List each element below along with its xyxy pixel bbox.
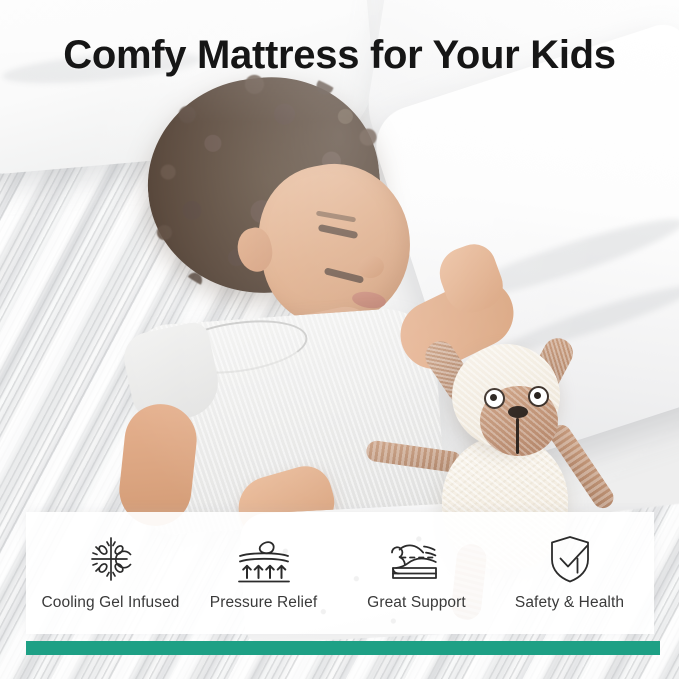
- feature-pressure-relief: Pressure Relief: [187, 534, 340, 612]
- feature-label: Safety & Health: [515, 594, 624, 612]
- feature-list: Cooling Gel Infused: [26, 512, 654, 634]
- pressure-relief-arrows-icon: [236, 534, 292, 584]
- accent-bar: [26, 641, 660, 655]
- feature-label: Pressure Relief: [210, 594, 317, 612]
- feature-panel: Cooling Gel Infused: [26, 512, 654, 634]
- feature-safety-health: Safety & Health: [493, 534, 646, 612]
- spine-support-icon: [389, 534, 445, 584]
- toy-head: [452, 344, 560, 448]
- feature-great-support: Great Support: [340, 534, 493, 612]
- page-title: Comfy Mattress for Your Kids: [0, 34, 679, 76]
- product-marketing-image: Comfy Mattress for Your Kids: [0, 0, 679, 679]
- toy-pupil-left: [490, 394, 497, 401]
- toy-mouth: [516, 418, 519, 454]
- feature-label: Cooling Gel Infused: [41, 594, 179, 612]
- shield-check-icon: [542, 534, 598, 584]
- feature-cooling-gel: Cooling Gel Infused: [34, 534, 187, 612]
- feature-label: Great Support: [367, 594, 466, 612]
- snowflake-cooling-icon: [83, 534, 139, 584]
- toy-pupil-right: [534, 392, 541, 399]
- toy-nose: [508, 406, 528, 418]
